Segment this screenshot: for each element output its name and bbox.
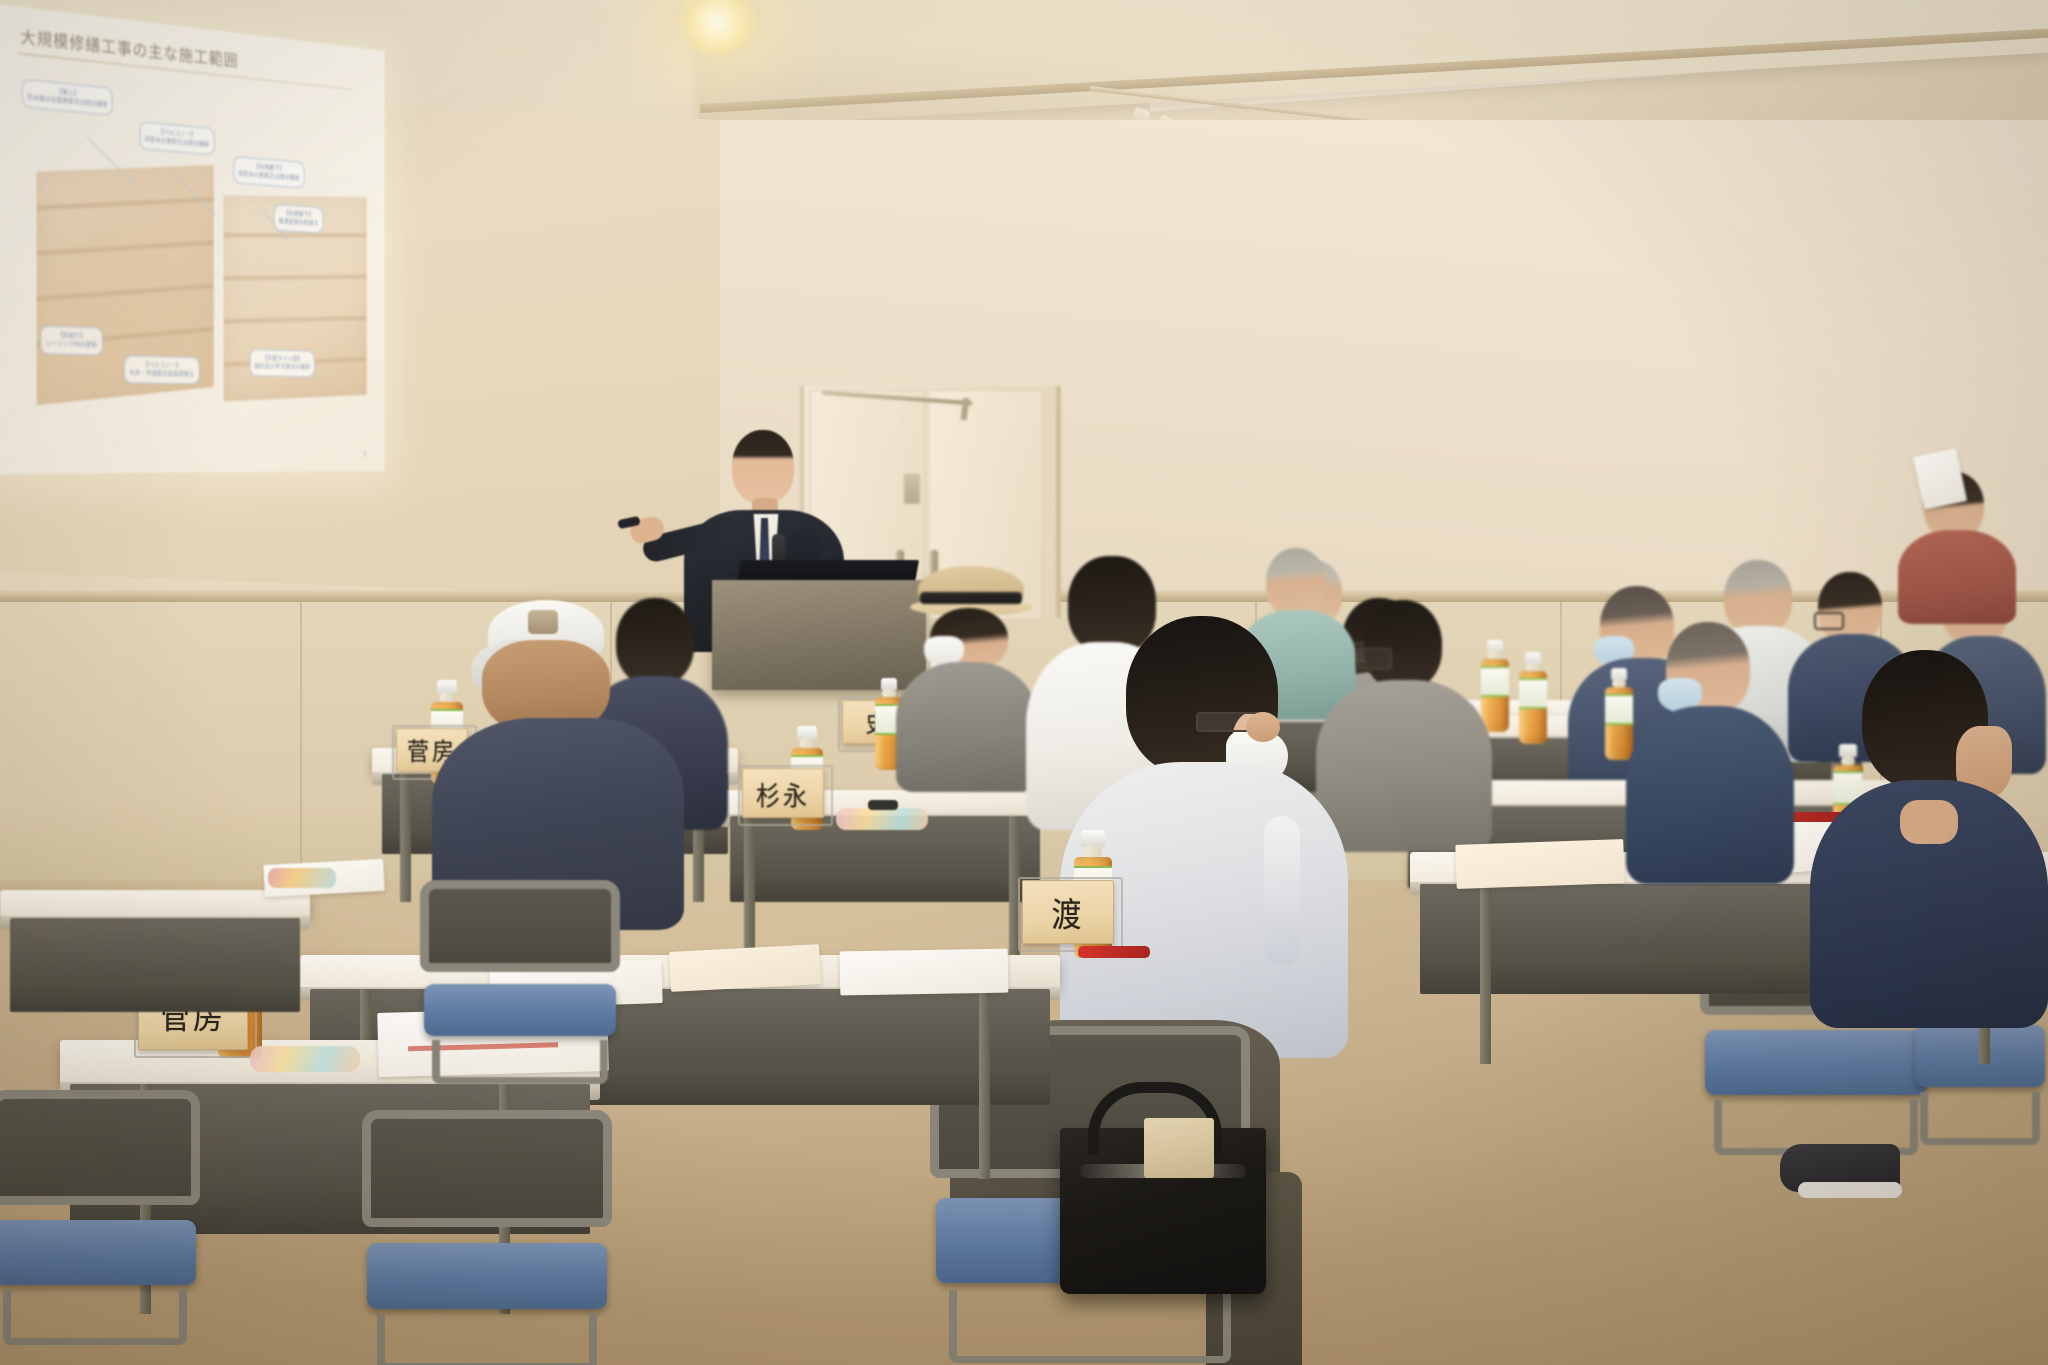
door-vision-panel [904, 474, 920, 504]
tea-bottle[interactable] [1518, 652, 1548, 744]
attendee-front-right [1810, 650, 2048, 1030]
hat-band [920, 592, 1022, 604]
candy-pack [836, 808, 928, 830]
attendee-hat-man [896, 574, 1038, 790]
slide-callout-balcony: 【バルコニー】 床防水の更新又は部分補修 [139, 121, 214, 155]
smartphone [868, 800, 898, 810]
callout-heading: 【外壁タイル面】 [262, 354, 303, 362]
projection-screen: 大規模修繕工事の主な施工範囲 [0, 4, 385, 474]
shoe-sole [1798, 1182, 1902, 1198]
seminar-room-photo: 大規模修繕工事の主な施工範囲 [0, 0, 2048, 1365]
handout-sheet [1455, 839, 1624, 889]
document-in-bag [1144, 1118, 1214, 1178]
chair-empty-left-2[interactable] [362, 1110, 612, 1365]
slide-callout-tile: 【外壁タイル面】 剥れ及び浮き部分の補修 [250, 349, 315, 377]
callout-text: 床防水の更新又は部分補修 [145, 135, 210, 148]
slide-callout-roof: 【屋上】 防水層の全面更新又は部分補修 [22, 79, 113, 116]
hand-at-face [1900, 800, 1958, 844]
callout-text: 天井・手摺壁の塗装塗替え [129, 369, 194, 378]
callout-text: 剥れ及び浮き部分の補修 [254, 362, 310, 371]
slide-callout-window: 【窓廻り】 シーリング材の更新 [40, 325, 102, 355]
callout-text: 側溝金物の取替え [278, 217, 318, 227]
slide-callout-corridor-2: 【共用廊下】 側溝金物の取替え [274, 204, 324, 234]
red-pen [1078, 946, 1150, 958]
callout-text: シーリング材の更新 [46, 340, 97, 349]
slide-page-number: 5 [363, 450, 366, 458]
attendee-right-mid [1626, 622, 1796, 882]
name-placard-2: 杉永 [742, 768, 824, 818]
shirt-sleeve-seam [1264, 816, 1300, 966]
candy-pack [268, 868, 336, 888]
projected-slide: 大規模修繕工事の主な施工範囲 [0, 4, 385, 474]
ear [1246, 712, 1280, 742]
callout-text: 床防水の更新又は部分補修 [238, 170, 299, 182]
candy-pack [250, 1046, 360, 1072]
table-left-upper [0, 890, 310, 918]
lectern [712, 580, 926, 690]
callout-heading: 【バルコニー】 [143, 360, 181, 368]
slide-callout-balcony-paint: 【バルコニー】 天井・手摺壁の塗装塗替え [124, 355, 199, 384]
slide-body: 【屋上】 防水層の全面更新又は部分補修 【バルコニー】 床防水の更新又は部分補修… [16, 68, 366, 401]
callout-heading: 【窓廻り】 [57, 331, 86, 340]
presenter-head [732, 430, 794, 504]
chair-empty-left[interactable] [0, 1090, 200, 1340]
cap-back-opening [528, 610, 558, 634]
chair-empty-mid[interactable] [420, 880, 620, 1080]
name-placard-4: 渡 [1022, 880, 1114, 944]
handout-sheet [669, 944, 821, 992]
slide-callout-corridor-1: 【共用廊下】 床防水の更新又は部分補修 [233, 156, 304, 188]
handout-sheet [840, 949, 1009, 996]
